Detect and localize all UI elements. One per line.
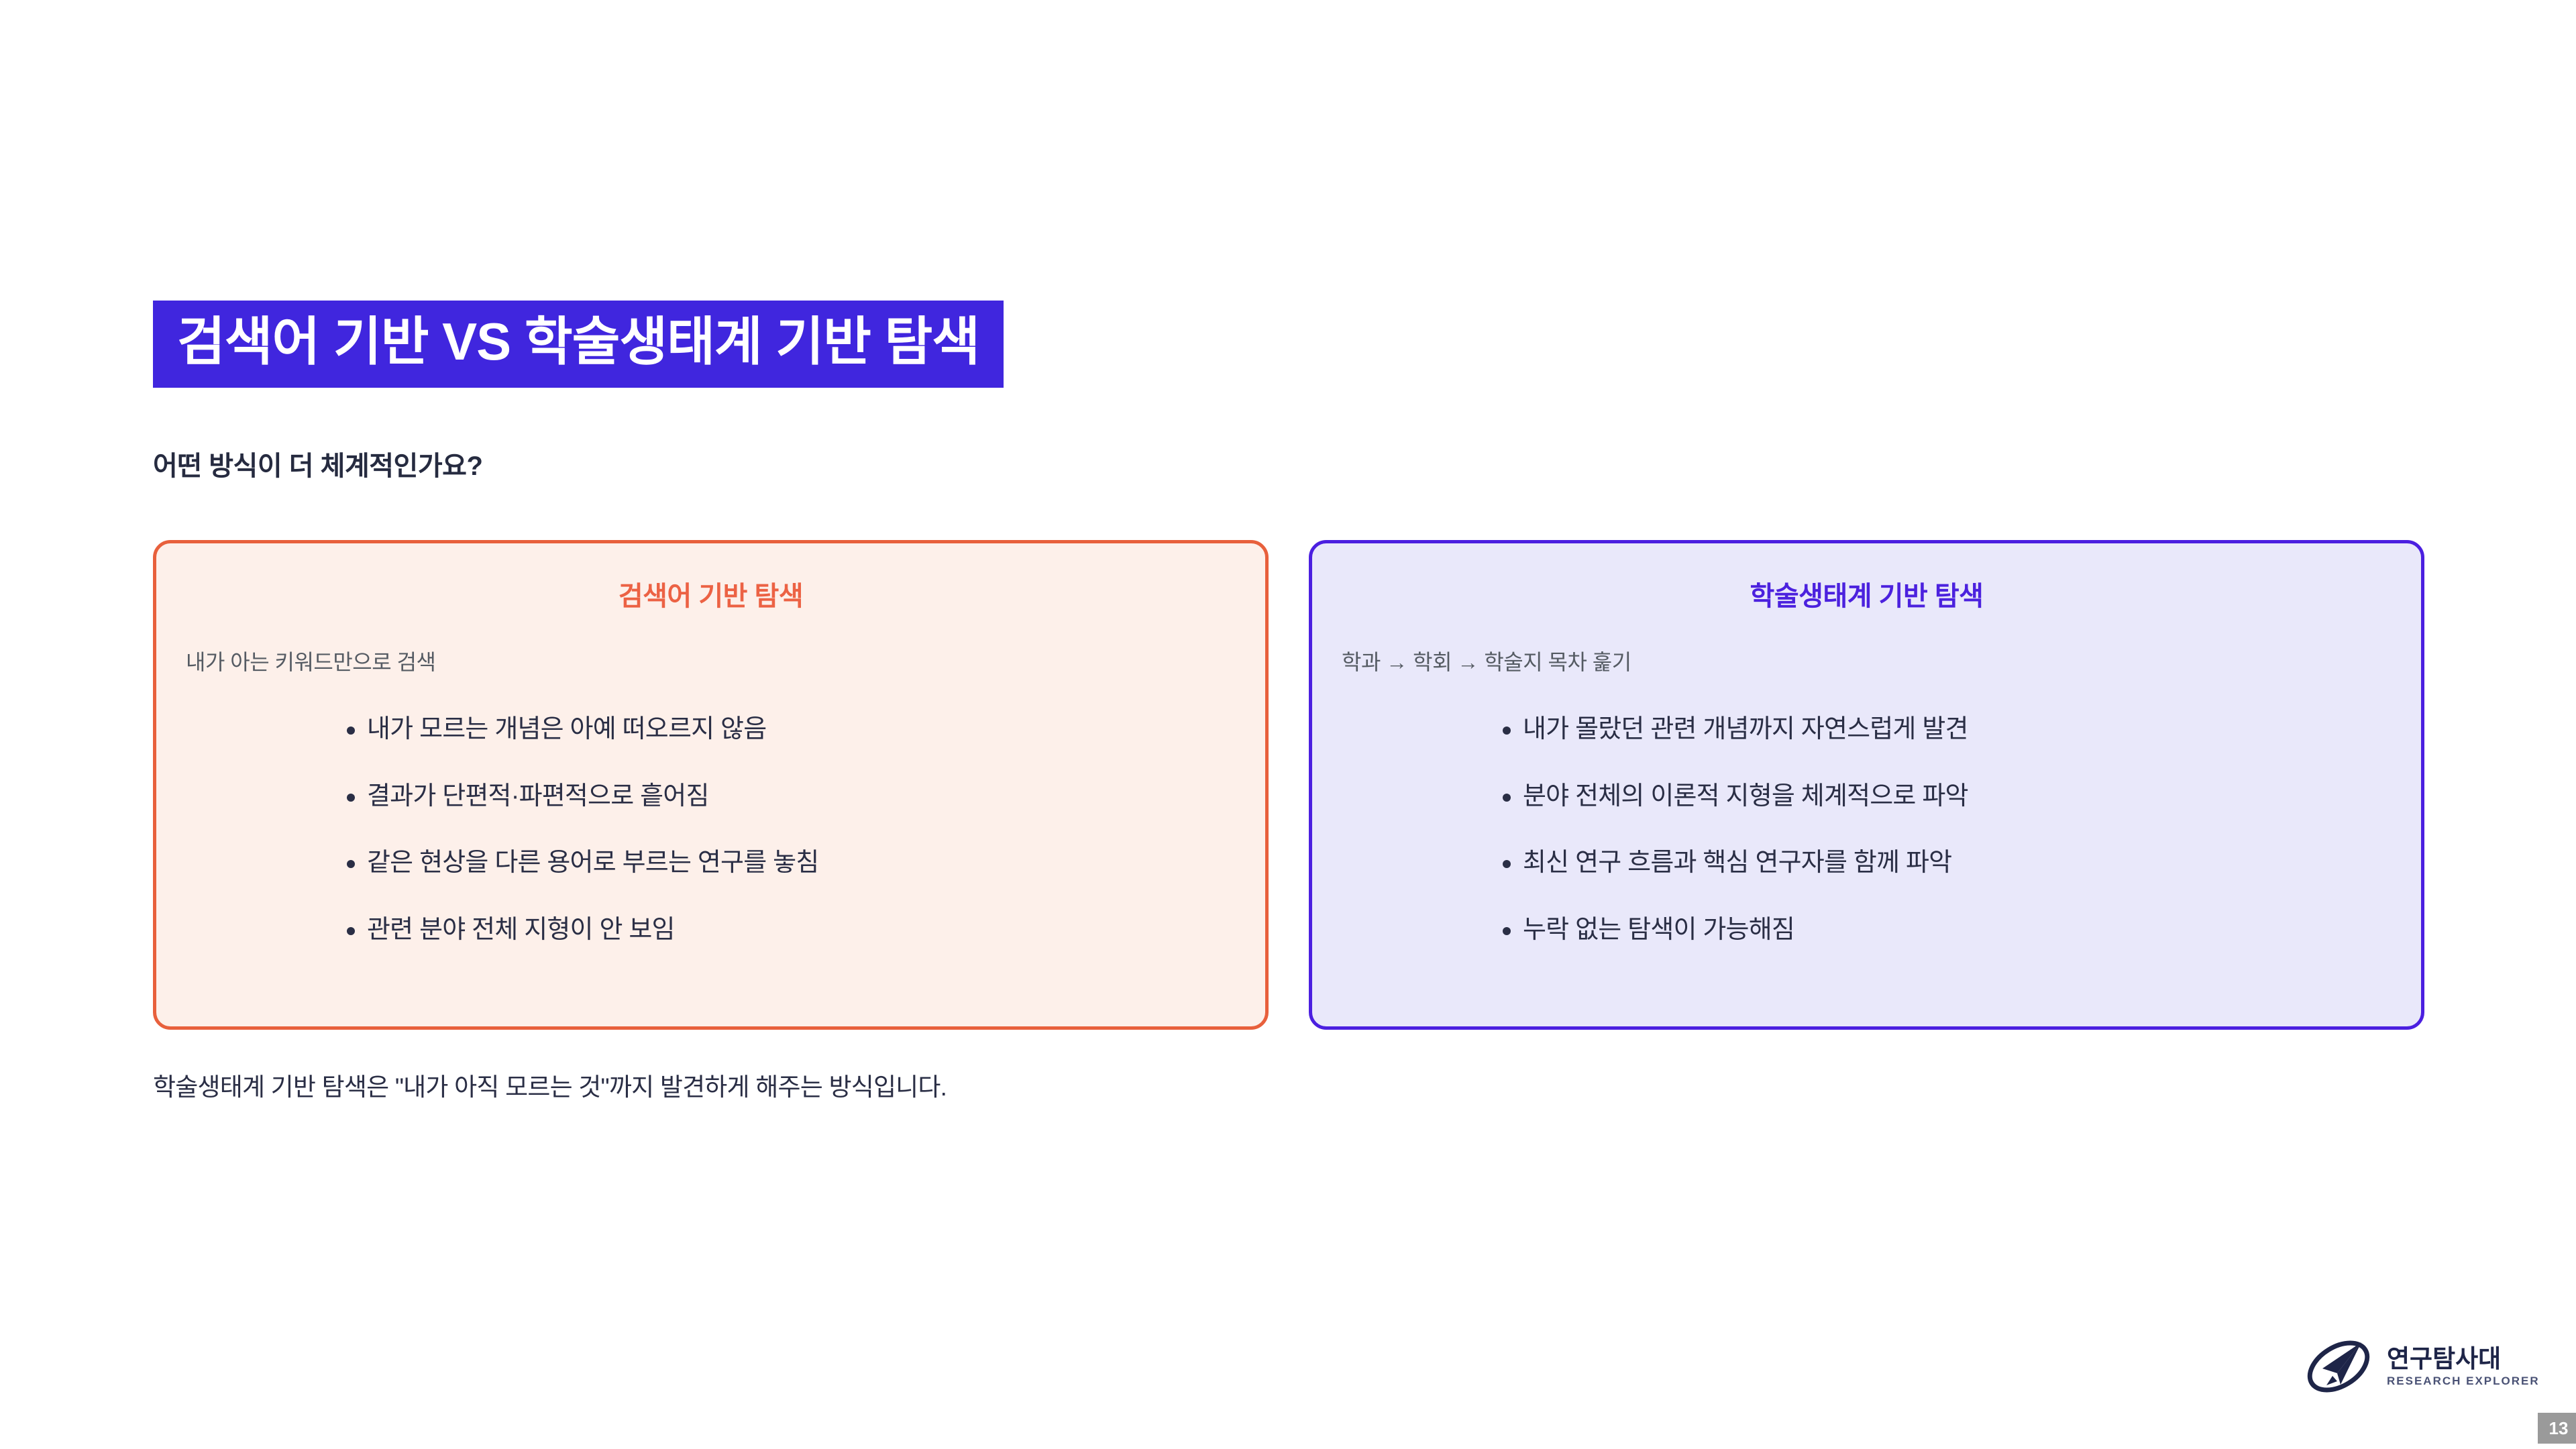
list-item: 같은 현상을 다른 용어로 부르는 연구를 놓침 — [367, 847, 1236, 879]
brand-logo: 연구탐사대 RESEARCH EXPLORER — [2302, 1332, 2540, 1401]
card-keyword-based-search: 검색어 기반 탐색 내가 아는 키워드만으로 검색 내가 모르는 개념은 아예 … — [153, 540, 1269, 1030]
list-item: 결과가 단편적·파편적으로 흩어짐 — [367, 781, 1236, 813]
brand-name: 연구탐사대 — [2387, 1346, 2540, 1371]
list-item-label: 관련 분야 전체 지형이 안 보임 — [367, 916, 675, 944]
left-card-subtitle: 내가 아는 키워드만으로 검색 — [186, 645, 1236, 676]
list-item-label: 결과가 단편적·파편적으로 흩어짐 — [367, 782, 709, 810]
list-item-label: 내가 모르는 개념은 아예 떠오르지 않음 — [367, 715, 766, 743]
comparison-card-row: 검색어 기반 탐색 내가 아는 키워드만으로 검색 내가 모르는 개념은 아예 … — [153, 540, 2424, 1030]
rocket-orbit-icon — [2302, 1332, 2375, 1401]
right-card-title: 학술생태계 기반 탐색 — [1342, 574, 2392, 613]
bullet-dot-icon — [347, 794, 355, 802]
list-item-label: 누락 없는 탐색이 가능해짐 — [1523, 916, 1794, 944]
bullet-dot-icon — [347, 860, 355, 868]
left-card-bullet-list: 내가 모르는 개념은 아예 떠오르지 않음 결과가 단편적·파편적으로 흩어짐 … — [186, 714, 1236, 946]
list-item: 분야 전체의 이론적 지형을 체계적으로 파악 — [1523, 781, 2392, 813]
page-title: 검색어 기반 VS 학술생태계 기반 탐색 — [177, 315, 979, 368]
page-number-badge: 13 — [2538, 1413, 2576, 1444]
list-item-label: 내가 몰랐던 관련 개념까지 자연스럽게 발견 — [1523, 715, 1968, 743]
list-item: 내가 몰랐던 관련 개념까지 자연스럽게 발견 — [1523, 714, 2392, 746]
footer-note: 학술생태계 기반 탐색은 "내가 아직 모르는 것"까지 발견하게 해주는 방식… — [153, 1067, 947, 1103]
brand-text-block: 연구탐사대 RESEARCH EXPLORER — [2387, 1346, 2540, 1387]
bullet-dot-icon — [1503, 794, 1511, 802]
slide-subheading: 어떤 방식이 더 체계적인가요? — [153, 444, 482, 483]
right-card-bullet-list: 내가 몰랐던 관련 개념까지 자연스럽게 발견 분야 전체의 이론적 지형을 체… — [1342, 714, 2392, 946]
list-item: 관련 분야 전체 지형이 안 보임 — [367, 914, 1236, 947]
left-card-title: 검색어 기반 탐색 — [186, 574, 1236, 613]
bullet-dot-icon — [347, 927, 355, 935]
right-card-subtitle: 학과 → 학회 → 학술지 목차 훑기 — [1342, 645, 2392, 676]
slide-title-banner: 검색어 기반 VS 학술생태계 기반 탐색 — [153, 301, 1004, 388]
list-item: 최신 연구 흐름과 핵심 연구자를 함께 파악 — [1523, 847, 2392, 879]
list-item: 내가 모르는 개념은 아예 떠오르지 않음 — [367, 714, 1236, 746]
bullet-dot-icon — [1503, 927, 1511, 935]
list-item-label: 최신 연구 흐름과 핵심 연구자를 함께 파악 — [1523, 849, 1951, 877]
brand-tagline: RESEARCH EXPLORER — [2387, 1375, 2540, 1387]
card-academic-ecosystem-search: 학술생태계 기반 탐색 학과 → 학회 → 학술지 목차 훑기 내가 몰랐던 관… — [1309, 540, 2424, 1030]
list-item-label: 분야 전체의 이론적 지형을 체계적으로 파악 — [1523, 782, 1968, 810]
list-item-label: 같은 현상을 다른 용어로 부르는 연구를 놓침 — [367, 849, 818, 877]
bullet-dot-icon — [347, 727, 355, 735]
list-item: 누락 없는 탐색이 가능해짐 — [1523, 914, 2392, 947]
bullet-dot-icon — [1503, 727, 1511, 735]
bullet-dot-icon — [1503, 860, 1511, 868]
slide-canvas: 검색어 기반 VS 학술생태계 기반 탐색 어떤 방식이 더 체계적인가요? 검… — [0, 0, 2576, 1449]
